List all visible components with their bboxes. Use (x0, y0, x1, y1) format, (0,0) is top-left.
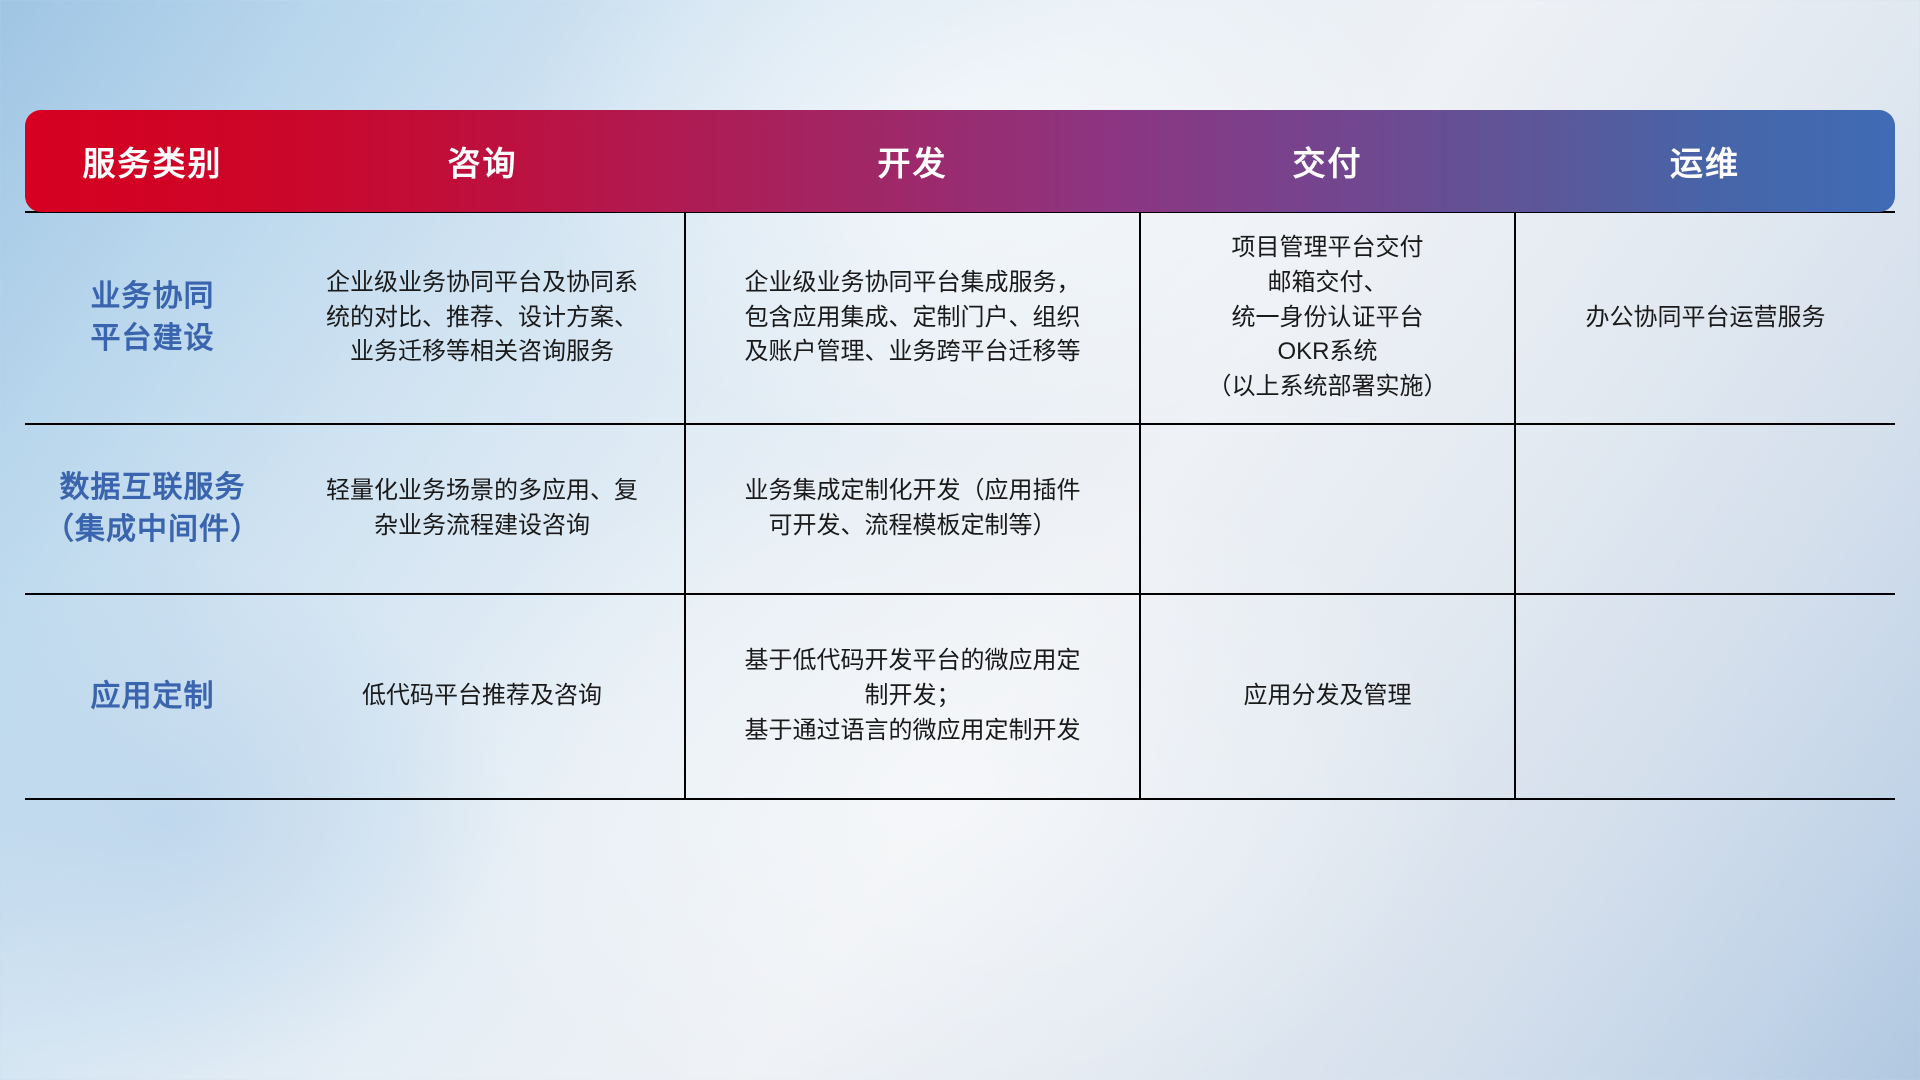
table-body: 业务协同 平台建设 企业级业务协同平台及协同系 统的对比、推荐、设计方案、 业务… (25, 212, 1895, 799)
column-header-category-label: 服务类别 (83, 145, 223, 182)
column-header-category: 服务类别 (25, 110, 280, 212)
cell-category-row1: 业务协同 平台建设 (25, 212, 280, 424)
column-header-development-label: 开发 (878, 145, 948, 182)
cell-delivery-row3: 应用分发及管理 (1140, 594, 1515, 799)
table-row: 数据互联服务 （集成中间件） 轻量化业务场景的多应用、复 杂业务流程建设咨询 业… (25, 424, 1895, 594)
table-header-row: 服务类别 咨询 开发 交付 运维 (25, 110, 1895, 212)
column-header-consulting-label: 咨询 (448, 145, 518, 182)
cell-consulting-row3: 低代码平台推荐及咨询 (280, 594, 685, 799)
table-header: 服务类别 咨询 开发 交付 运维 (25, 110, 1895, 212)
column-header-delivery: 交付 (1140, 110, 1515, 212)
cell-consulting-row2: 轻量化业务场景的多应用、复 杂业务流程建设咨询 (280, 424, 685, 594)
service-matrix-table-container: 服务类别 咨询 开发 交付 运维 业务协同 平台建设 企业级业务协同平台及协 (25, 110, 1895, 780)
cell-consulting-row1: 企业级业务协同平台及协同系 统的对比、推荐、设计方案、 业务迁移等相关咨询服务 (280, 212, 685, 424)
table-row: 业务协同 平台建设 企业级业务协同平台及协同系 统的对比、推荐、设计方案、 业务… (25, 212, 1895, 424)
service-matrix-table: 服务类别 咨询 开发 交付 运维 业务协同 平台建设 企业级业务协同平台及协 (25, 110, 1895, 800)
table-row: 应用定制 低代码平台推荐及咨询 基于低代码开发平台的微应用定 制开发； 基于通过… (25, 594, 1895, 799)
cell-operations-row2 (1515, 424, 1895, 594)
column-header-operations: 运维 (1515, 110, 1895, 212)
cell-development-row3: 基于低代码开发平台的微应用定 制开发； 基于通过语言的微应用定制开发 (685, 594, 1140, 799)
column-header-operations-label: 运维 (1670, 145, 1740, 182)
column-header-development: 开发 (685, 110, 1140, 212)
cell-delivery-row2 (1140, 424, 1515, 594)
column-header-delivery-label: 交付 (1293, 145, 1363, 182)
column-header-consulting: 咨询 (280, 110, 685, 212)
cell-operations-row3 (1515, 594, 1895, 799)
cell-category-row2: 数据互联服务 （集成中间件） (25, 424, 280, 594)
cell-category-row3: 应用定制 (25, 594, 280, 799)
cell-development-row1: 企业级业务协同平台集成服务， 包含应用集成、定制门户、组织 及账户管理、业务跨平… (685, 212, 1140, 424)
cell-delivery-row1: 项目管理平台交付 邮箱交付、 统一身份认证平台 OKR系统 （以上系统部署实施） (1140, 212, 1515, 424)
cell-development-row2: 业务集成定制化开发（应用插件 可开发、流程模板定制等） (685, 424, 1140, 594)
cell-operations-row1: 办公协同平台运营服务 (1515, 212, 1895, 424)
